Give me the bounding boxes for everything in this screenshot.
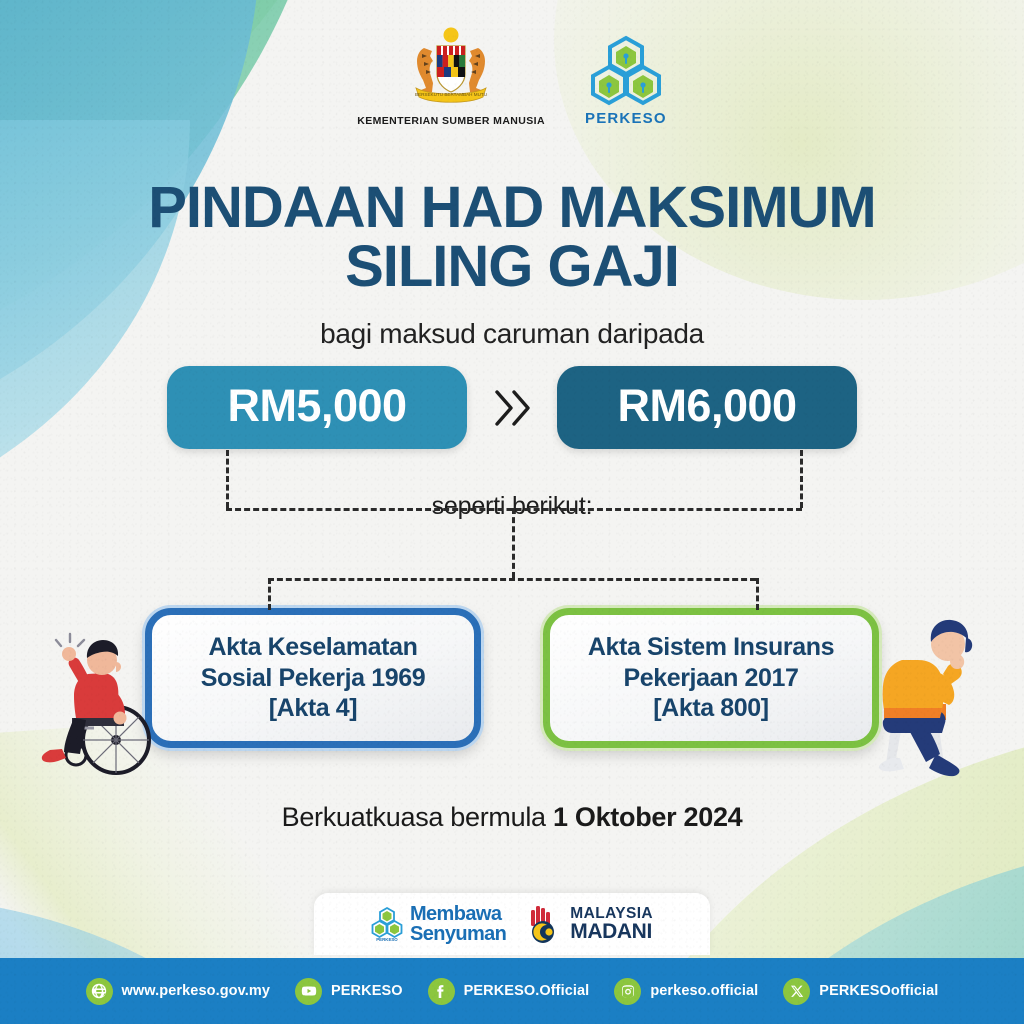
person-sitting-head-on-hand-illustration [862,598,1014,780]
page-subtitle: bagi maksud caruman daripada [0,318,1024,350]
amount-comparison: RM5,000 RM6,000 [0,366,1024,449]
ministry-name: KEMENTERIAN SUMBER MANUSIA [357,115,545,127]
page-title: PINDAAN HAD MAKSIMUM SILING GAJI [0,178,1024,296]
facebook-icon [428,978,455,1005]
infographic-poster: BERSEKUTU BERTAMBAH MUTU KEMENTERIAN SUM… [0,0,1024,1024]
effective-date: Berkuatkuasa bermula 1 Oktober 2024 [0,802,1024,833]
footer-label-x: PERKESOofficial [819,983,938,999]
connector-horizontal-split [268,578,756,581]
connector-down-from-old [226,450,229,508]
old-amount-pill: RM5,000 [167,366,467,449]
act-card-text: Akta Sistem Insurans Pekerjaan 2017 [Akt… [580,632,842,724]
act-card-2-line-1: Akta Sistem Insurans [588,632,834,663]
connector-down-to-card-1 [268,578,271,610]
double-chevron-right-icon [489,383,535,433]
footer-label-instagram: perkeso.official [650,983,758,999]
perkeso-logo-block: PERKESO [585,34,667,127]
perkeso-hexagon-logo-icon [590,34,662,108]
title-line-1: PINDAAN HAD MAKSIMUM [148,175,876,240]
connector-down-from-new [800,450,803,508]
malaysia-madani-lockup: MALAYSIA MADANI [524,904,653,944]
malaysia-madani-text: MALAYSIA MADANI [570,906,653,943]
footer-label-website: www.perkeso.gov.my [122,983,270,999]
x-twitter-icon [783,978,810,1005]
globe-icon [86,978,113,1005]
act-card-akta-800: Akta Sistem Insurans Pekerjaan 2017 [Akt… [543,608,879,748]
membawa-senyuman-lockup: PERKESO Membawa Senyuman [371,904,506,944]
instagram-icon [614,978,641,1005]
effective-date-prefix: Berkuatkuasa bermula [282,802,553,832]
svg-text:PERKESO: PERKESO [376,937,398,942]
madani-line-2: MADANI [570,921,653,942]
act-card-2-line-2: Pekerjaan 2017 [588,663,834,694]
header-logos: BERSEKUTU BERTAMBAH MUTU KEMENTERIAN SUM… [0,26,1024,127]
svg-text:BERSEKUTU BERTAMBAH MUTU: BERSEKUTU BERTAMBAH MUTU [415,92,487,97]
act-card-akta-4: Akta Keselamatan Sosial Pekerja 1969 [Ak… [145,608,481,748]
act-card-1-line-2: Sosial Pekerja 1969 [201,663,426,694]
malaysia-coat-of-arms-icon: BERSEKUTU BERTAMBAH MUTU [392,26,510,110]
footer-item-youtube[interactable]: PERKESO [295,978,403,1005]
footer-label-youtube: PERKESO [331,983,403,999]
ministry-logo-block: BERSEKUTU BERTAMBAH MUTU KEMENTERIAN SUM… [357,26,545,127]
youtube-icon [295,978,322,1005]
act-card-text: Akta Keselamatan Sosial Pekerja 1969 [Ak… [193,632,434,724]
footer-label-facebook: PERKESO.Official [464,983,590,999]
connector-down-to-split [512,508,515,578]
footer-item-facebook[interactable]: PERKESO.Official [428,978,590,1005]
title-line-2: SILING GAJI [0,237,1024,296]
effective-date-value: 1 Oktober 2024 [553,802,742,832]
act-card-1-line-3: [Akta 4] [201,693,426,724]
footer-item-website[interactable]: www.perkeso.gov.my [86,978,270,1005]
malaysia-madani-logo-icon [524,904,564,944]
social-footer-bar: www.perkeso.gov.my PERKESO PERKESO.Offic… [0,958,1024,1024]
membawa-line-1: Membawa [410,903,501,925]
act-card-1-line-1: Akta Keselamatan [201,632,426,663]
membawa-line-2: Senyuman [410,924,506,944]
perkeso-hexagon-logo-icon: PERKESO [371,906,403,942]
footer-item-x[interactable]: PERKESOofficial [783,978,938,1005]
madani-line-1: MALAYSIA [570,906,653,922]
footer-item-instagram[interactable]: perkeso.official [614,978,758,1005]
connector-down-to-card-2 [756,578,759,610]
membawa-senyuman-text: Membawa Senyuman [410,904,506,944]
new-amount-pill: RM6,000 [557,366,857,449]
perkeso-wordmark: PERKESO [585,110,667,127]
act-card-2-line-3: [Akta 800] [588,693,834,724]
tagline-bar: PERKESO Membawa Senyuman [314,893,710,955]
person-in-wheelchair-waving-illustration [28,600,178,780]
